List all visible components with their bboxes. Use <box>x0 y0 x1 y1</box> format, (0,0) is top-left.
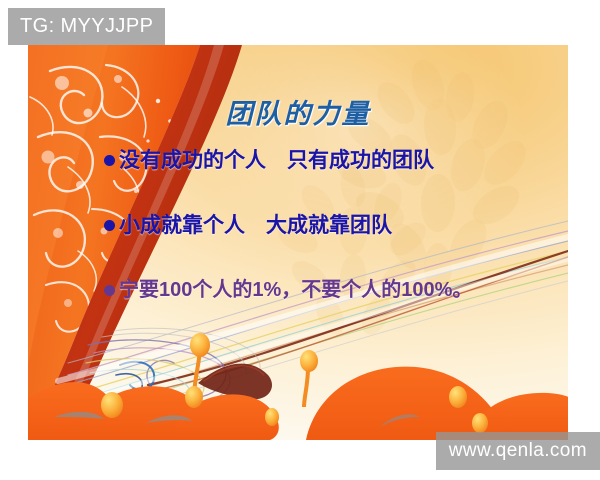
slide-title: 团队的力量 <box>28 92 568 131</box>
bullet-list: 没有成功的个人 只有成功的团队 小成就靠个人 大成就靠团队 宁要100个人的1%… <box>104 150 556 300</box>
filled-circle-icon <box>104 155 115 166</box>
bullet-item: 小成就靠个人 大成就靠团队 <box>104 215 556 236</box>
bullet-text: 宁要100个人的1%，不要个人的100%。 <box>119 280 472 300</box>
watermark-bottom-right: www.qenla.com <box>436 432 600 470</box>
watermark-top-left: TG: MYYJJPP <box>8 8 165 45</box>
bullet-item: 没有成功的个人 只有成功的团队 <box>104 150 556 171</box>
bullet-text: 小成就靠个人 大成就靠团队 <box>119 215 392 236</box>
bullet-text: 没有成功的个人 只有成功的团队 <box>119 150 434 171</box>
filled-circle-icon <box>104 285 115 296</box>
filled-circle-icon <box>104 220 115 231</box>
bullet-item: 宁要100个人的1%，不要个人的100%。 <box>104 280 556 300</box>
presentation-slide: 团队的力量 没有成功的个人 只有成功的团队 小成就靠个人 大成就靠团队 宁要10… <box>28 45 568 440</box>
slide-image: 团队的力量 没有成功的个人 只有成功的团队 小成就靠个人 大成就靠团队 宁要10… <box>0 0 600 480</box>
